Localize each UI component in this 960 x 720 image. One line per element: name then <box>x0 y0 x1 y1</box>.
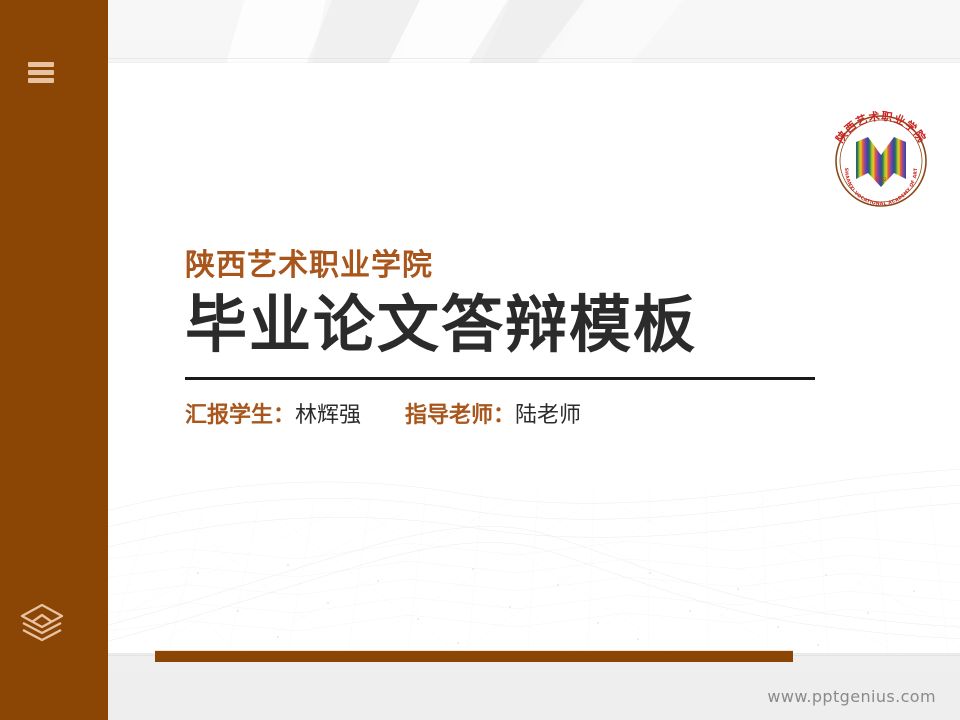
footer-website-url[interactable]: www.pptgenius.com <box>767 687 936 706</box>
title-divider <box>185 377 815 380</box>
presenter-info-row: 汇报学生：林辉强指导老师：陆老师 <box>185 402 825 431</box>
school-name: 陕西艺术职业学院 <box>185 248 825 284</box>
hamburger-menu-icon[interactable] <box>28 62 54 83</box>
wireframe-mesh-decoration <box>78 423 960 653</box>
advisor-label: 指导老师： <box>405 403 515 428</box>
layers-stack-icon[interactable] <box>19 602 65 644</box>
presenter-name: 林辉强 <box>295 403 361 428</box>
school-logo-emblem: 陕西艺术职业学院 SHAANXI VOCATIONAL ACADEMY OF A… <box>823 107 939 212</box>
presenter-label: 汇报学生： <box>185 403 295 428</box>
advisor-name: 陆老师 <box>515 403 581 428</box>
logo-year-text: 1952 <box>875 177 887 183</box>
page-title: 毕业论文答辩模板 <box>185 290 825 359</box>
left-sidebar <box>0 0 108 720</box>
title-text-block: 陕西艺术职业学院 毕业论文答辩模板 汇报学生：林辉强指导老师：陆老师 <box>185 248 825 431</box>
accent-underbar <box>155 650 793 662</box>
presentation-slide: 陕西艺术职业学院 SHAANXI VOCATIONAL ACADEMY OF A… <box>0 0 960 720</box>
